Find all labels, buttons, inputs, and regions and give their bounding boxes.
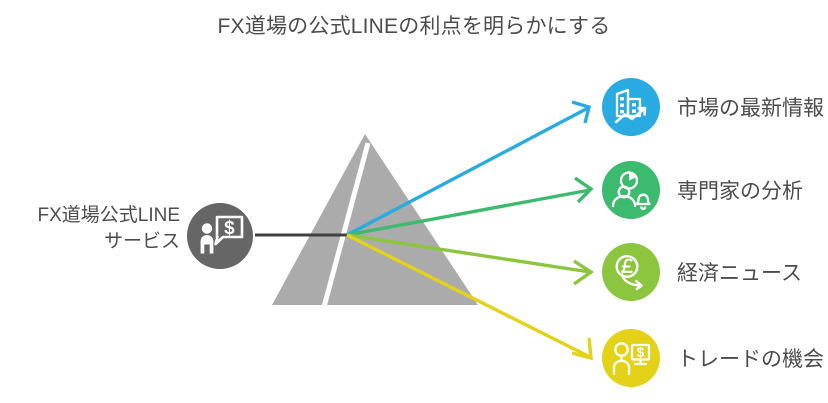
branch-label-market-updates: 市場の最新情報: [677, 92, 824, 122]
source-label: FX道場公式LINE サービス: [8, 203, 180, 255]
branch-item-market-updates[interactable]: 市場の最新情報: [602, 78, 824, 136]
analyst-piechart-bell-icon: [602, 161, 660, 219]
branch-label-trading-opportunity: トレードの機会: [677, 343, 824, 373]
svg-text:$: $: [224, 218, 235, 239]
currency-trend-down-icon: [602, 243, 660, 301]
branch-item-expert-analysis[interactable]: 専門家の分析: [602, 161, 803, 219]
branch-label-expert-analysis: 専門家の分析: [677, 175, 803, 205]
person-monitor-dollar-icon: $: [602, 329, 660, 387]
branch-item-trading-opportunity[interactable]: $ トレードの機会: [602, 329, 824, 387]
source-label-line-2: サービス: [8, 229, 180, 255]
building-growth-chart-icon: [602, 78, 660, 136]
branch-item-economic-news[interactable]: 経済ニュース: [602, 243, 802, 301]
branch-label-economic-news: 経済ニュース: [677, 257, 802, 287]
svg-text:$: $: [637, 345, 645, 360]
person-money-chat-icon: $: [187, 203, 253, 269]
source-label-line-1: FX道場公式LINE: [8, 203, 180, 229]
diagram-canvas: FX道場の公式LINEの利点を明らかにする: [0, 0, 828, 403]
